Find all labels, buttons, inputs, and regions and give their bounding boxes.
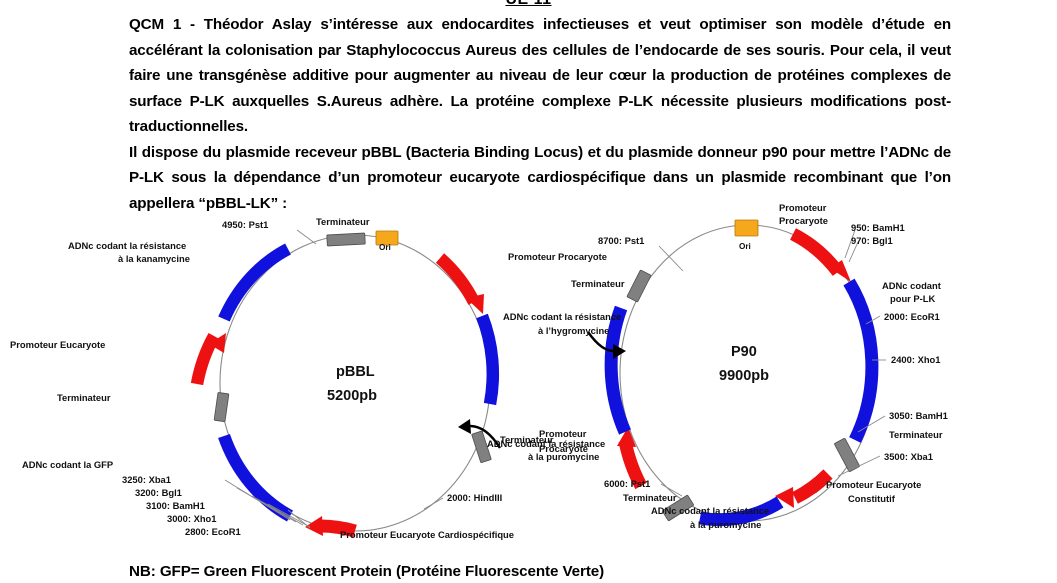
pbbl-site-3000: 3000: Xho1 xyxy=(167,513,217,524)
pbbl-label-kana-line1: ADNc codant la résistance xyxy=(68,240,186,251)
p90-site-950: 950: BamH1 xyxy=(851,222,905,233)
p90-feature-term-right xyxy=(834,438,860,472)
pbbl-site-4950: 4950: Pst1 xyxy=(222,219,268,230)
p90-label-hygro-line2: à l’hygromycine xyxy=(538,325,609,336)
pbbl-label-ori: Ori xyxy=(379,243,391,252)
p90-site-3050: 3050: BamH1 xyxy=(889,410,948,421)
p90-label-prom-euc-const-line1: Promoteur Eucaryote xyxy=(826,479,921,490)
p90-name: P90 xyxy=(731,344,757,360)
p90-site-8700: 8700: Pst1 xyxy=(598,235,644,246)
p90-label-prom-euc-const-line2: Constitutif xyxy=(848,493,896,504)
p90-feature-hygro xyxy=(611,308,625,432)
p90-feature-prom-euc-const xyxy=(775,474,828,508)
pbbl-feature-term-left xyxy=(214,392,229,421)
p90-leader-8700 xyxy=(659,246,683,271)
p90-label-plk-line1: ADNc codant xyxy=(882,280,941,291)
pbbl-leader-2000 xyxy=(424,498,443,509)
p90-label-terminateur-left: Terminateur xyxy=(571,278,625,289)
p90-feature-plk xyxy=(849,282,872,440)
pbbl-site-3250: 3250: Xba1 xyxy=(122,474,171,485)
p90-label-plk-line2: pour P-LK xyxy=(890,293,936,304)
p90-site-2000: 2000: EcoR1 xyxy=(884,311,940,322)
p90-feature-term-left xyxy=(627,270,651,302)
pbbl-label-prom-cardio: Promoteur Eucaryote Cardiospécifique xyxy=(340,529,514,540)
pbbl-site-2000: 2000: HindIII xyxy=(447,492,502,503)
question-text: QCM 1 - Théodor Aslay s’intéresse aux en… xyxy=(129,12,951,216)
pbbl-site-2800: 2800: EcoR1 xyxy=(185,526,241,537)
pbbl-site-3100: 3100: BamH1 xyxy=(146,500,205,511)
p90-label-terminateur-bottom: Terminateur xyxy=(623,492,677,503)
p90-label-terminateur-right: Terminateur xyxy=(889,429,943,440)
p90-label-puro-line2: à la puromycine xyxy=(690,519,761,530)
p90-label-prom-pro-left-line2: Procaryote xyxy=(539,443,588,454)
p90-label-hygro-line1: ADNc codant la résistance xyxy=(503,311,621,322)
pbbl-leader-3100 xyxy=(252,496,303,525)
p90-site-2400: 2400: Xho1 xyxy=(891,354,941,365)
p90-feature-ori xyxy=(735,220,758,236)
p90-label-ori: Ori xyxy=(739,242,751,251)
pbbl-leader-3000 xyxy=(268,504,310,527)
pbbl-label-gfp: ADNc codant la GFP xyxy=(22,459,113,470)
pbbl-label-prom-eucaryote: Promoteur Eucaryote xyxy=(10,339,105,350)
p90-label-prom-pro-top-line1: Promoteur xyxy=(779,202,827,213)
p90-site-970: 970: Bgl1 xyxy=(851,235,893,246)
p90-site-3500: 3500: Xba1 xyxy=(884,451,933,462)
page-title: UE 11 xyxy=(0,0,1057,9)
pbbl-site-3200: 3200: Bgl1 xyxy=(135,487,182,498)
question-paragraph-1: QCM 1 - Théodor Aslay s’intéresse aux en… xyxy=(129,12,951,140)
plasmid-figure: 4950: Pst1 Terminateur ADNc codant la ré… xyxy=(0,198,1057,558)
pbbl-feature-term-top xyxy=(327,233,366,246)
pbbl-feature-prom-pro xyxy=(440,258,484,314)
p90-label-puro-line1: ADNc codant la résistance xyxy=(651,505,769,516)
p90-label-prom-pro-left-line1: Promoteur xyxy=(539,428,587,439)
pbbl-size: 5200pb xyxy=(327,388,377,404)
p90-feature-prom-pro-top xyxy=(793,234,851,282)
pbbl-label-kana-line2: à la kanamycine xyxy=(118,253,190,264)
pbbl-feature-gfp xyxy=(224,436,290,516)
pbbl-feature-puro xyxy=(482,316,493,404)
pbbl-label-terminateur-left: Terminateur xyxy=(57,392,111,403)
footnote: NB: GFP= Green Fluorescent Protein (Prot… xyxy=(129,563,604,580)
plasmid-pbbl: 4950: Pst1 Terminateur ADNc codant la ré… xyxy=(10,216,607,540)
pbbl-label-prom-procaryote: Promoteur Procaryote xyxy=(508,251,607,262)
p90-label-prom-pro-top-line2: Procaryote xyxy=(779,215,828,226)
slide-page: UE 11 QCM 1 - Théodor Aslay s’intéresse … xyxy=(0,0,1057,583)
p90-site-6000: 6000: Pst1 xyxy=(604,478,650,489)
pbbl-feature-kana xyxy=(224,249,288,319)
pbbl-label-terminateur-top: Terminateur xyxy=(316,216,370,227)
pbbl-leader-4950 xyxy=(297,230,316,244)
p90-size: 9900pb xyxy=(719,368,769,384)
pbbl-name: pBBL xyxy=(336,364,375,380)
